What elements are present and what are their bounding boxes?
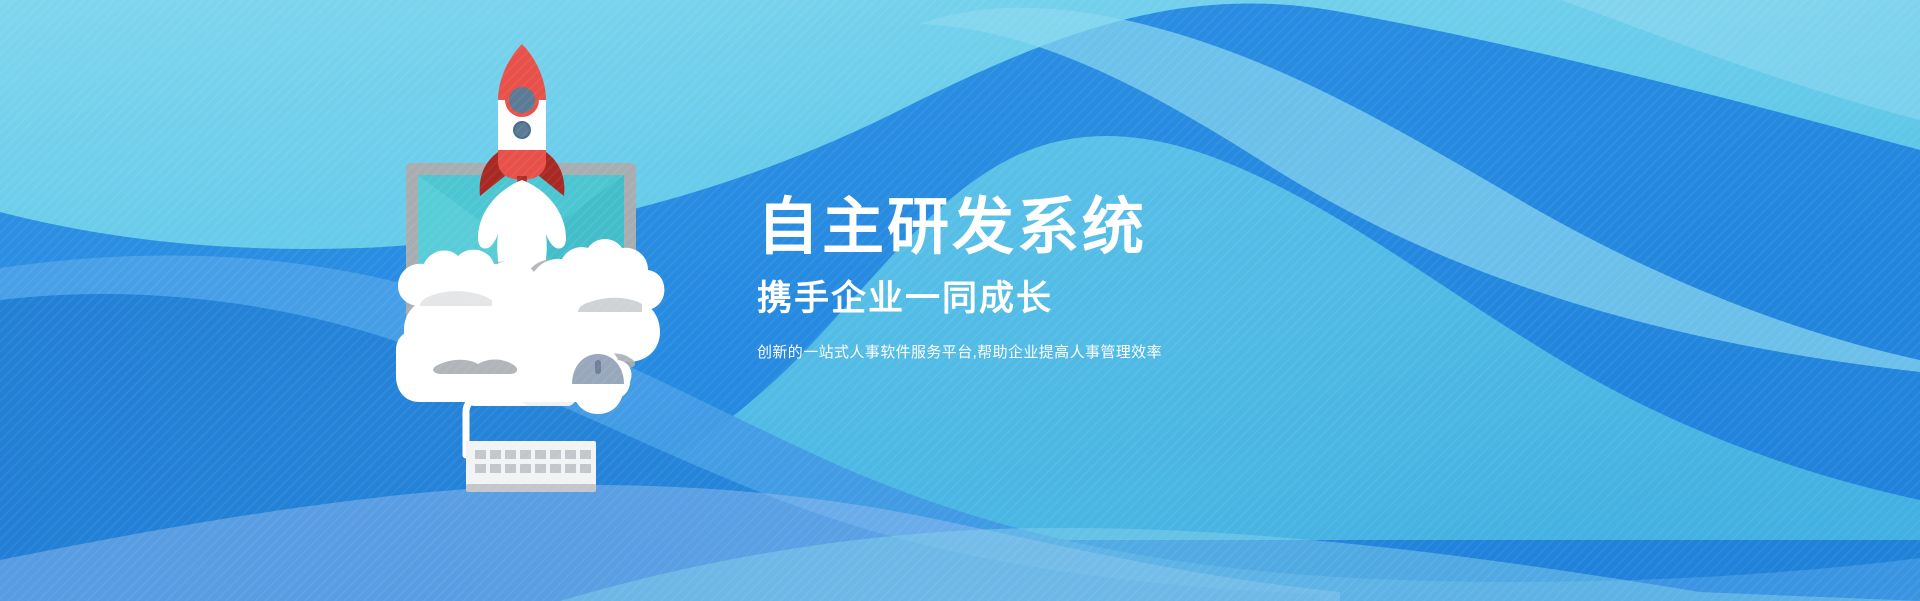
keyboard-key [550,450,561,459]
headline-description: 创新的一站式人事软件服务平台,帮助企业提高人事管理效率 [757,318,1517,363]
headline-main: 自主研发系统 [757,196,1517,259]
headline-sub: 携手企业一同成长 [757,259,1517,318]
keyboard-key [535,464,546,473]
keyboard-key [520,464,531,473]
mouse-scroll-wheel [595,360,601,374]
keyboard-key [475,450,486,459]
keyboard-base-edge [466,484,596,492]
keyboard-key [535,450,546,459]
keyboard [466,441,596,492]
keyboard-key [550,464,561,473]
hero-banner: 自主研发系统 携手企业一同成长 创新的一站式人事软件服务平台,帮助企业提高人事管… [0,0,1920,601]
keyboard-key [580,464,591,473]
mouse-bottom-shell [572,384,624,414]
rocket-porthole-small-glass [515,123,529,137]
mouse [572,354,624,414]
keyboard-key [580,450,591,459]
keyboard-key [490,464,501,473]
keyboard-key [505,450,516,459]
keyboard-key [505,464,516,473]
keyboard-key [565,450,576,459]
keyboard-key [520,450,531,459]
hero-copy: 自主研发系统 携手企业一同成长 创新的一站式人事软件服务平台,帮助企业提高人事管… [757,196,1517,362]
keyboard-key [565,464,576,473]
rocket-porthole-glass [509,87,535,113]
keyboard-key [490,450,501,459]
keyboard-key [475,464,486,473]
